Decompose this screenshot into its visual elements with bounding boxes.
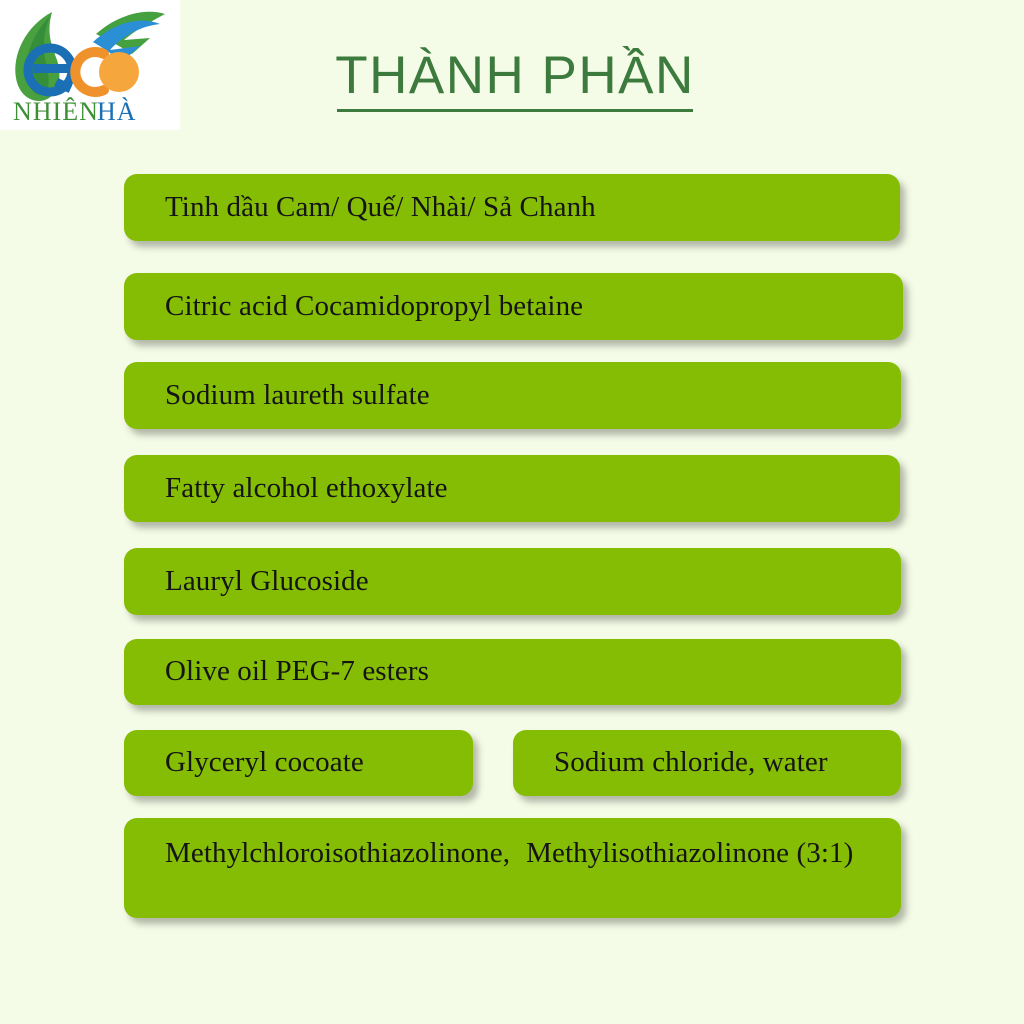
ingredient-bar: Olive oil PEG-7 esters — [124, 639, 901, 705]
ingredient-label: Sodium laureth sulfate — [124, 377, 448, 414]
ingredient-label: Fatty alcohol ethoxylate — [124, 470, 466, 507]
ingredient-bar: Sodium laureth sulfate — [124, 362, 901, 429]
ingredient-label: Lauryl Glucoside — [124, 563, 387, 600]
ingredient-label: Sodium chloride, water — [513, 744, 846, 781]
ingredient-label: Glyceryl cocoate — [124, 744, 382, 781]
ingredient-list: Tinh dầu Cam/ Quế/ Nhài/ Sả Chanh Citric… — [0, 0, 1024, 1024]
ingredient-bar: Citric acid Cocamidopropyl betaine — [124, 273, 903, 340]
ingredient-bar: Fatty alcohol ethoxylate — [124, 455, 900, 522]
ingredient-label: Citric acid Cocamidopropyl betaine — [124, 288, 601, 325]
ingredient-label: Tinh dầu Cam/ Quế/ Nhài/ Sả Chanh — [124, 189, 614, 226]
ingredient-bar: Lauryl Glucoside — [124, 548, 901, 615]
ingredient-label-multiline: Methylchloroisothiazolinone,Methylisothi… — [124, 835, 871, 872]
ingredient-bar: Methylchloroisothiazolinone,Methylisothi… — [124, 818, 901, 918]
ingredient-bar: Tinh dầu Cam/ Quế/ Nhài/ Sả Chanh — [124, 174, 900, 241]
ingredient-label-part1: Methylchloroisothiazolinone, — [165, 837, 510, 869]
ingredient-label-part2: Methylisothiazolinone (3:1) — [526, 837, 853, 869]
ingredient-label: Olive oil PEG-7 esters — [124, 653, 447, 690]
ingredient-bar: Sodium chloride, water — [513, 730, 901, 796]
ingredient-bar: Glyceryl cocoate — [124, 730, 473, 796]
